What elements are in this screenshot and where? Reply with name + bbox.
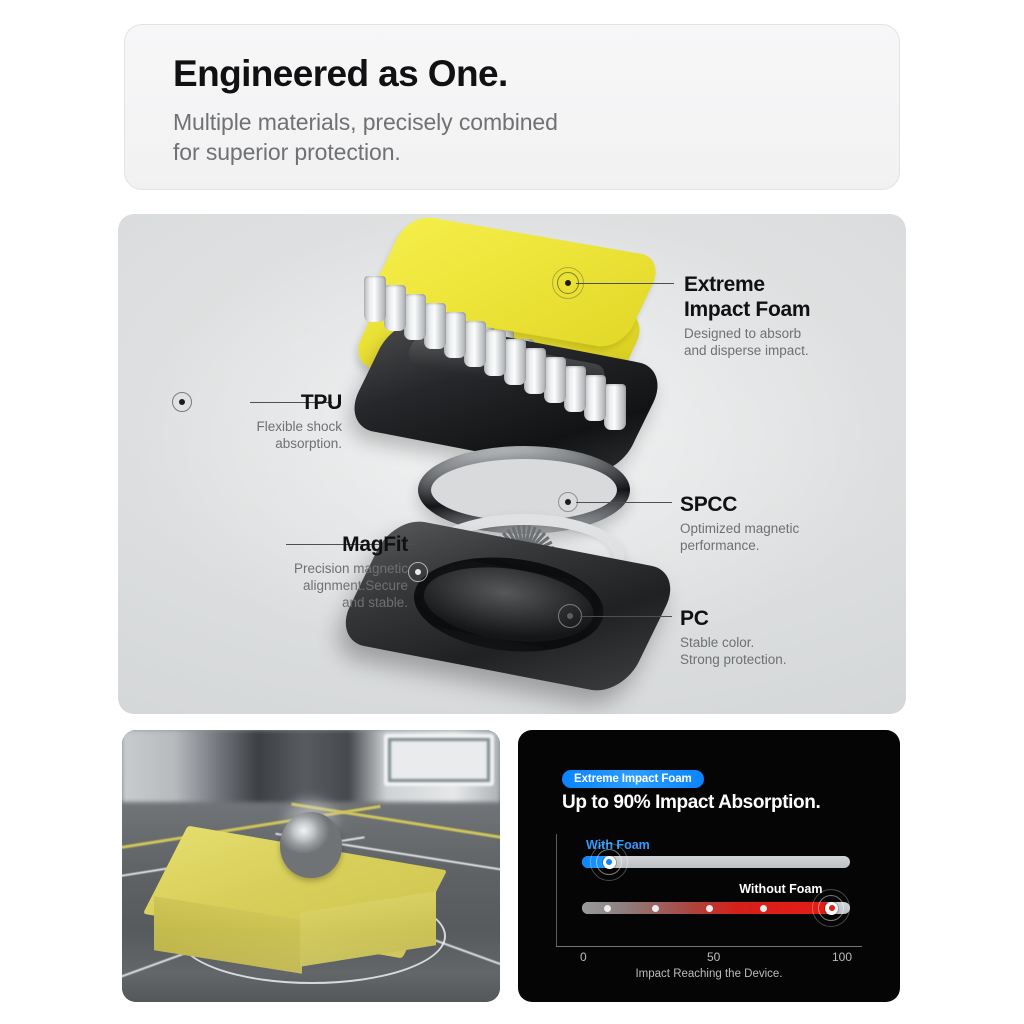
label-desc-line2: Strong protection. [680, 651, 787, 668]
label-desc-line2: alignment.Secure [128, 577, 408, 594]
subtitle-line-2: for superior protection. [173, 137, 558, 167]
leader-line-foam [576, 283, 674, 284]
foam-cell [424, 303, 446, 349]
label-magfit: MagFit Precision magnetic alignment.Secu… [128, 532, 408, 611]
label-desc: Optimized magnetic performance. [680, 520, 799, 554]
impact-ball [280, 812, 342, 878]
chart-node-2 [652, 905, 659, 912]
foam-cell [384, 285, 406, 331]
chart-x-axis [556, 946, 862, 947]
chart-bar-track-without-foam[interactable] [582, 902, 850, 914]
chart-node-1 [604, 905, 611, 912]
pc-cavity [395, 544, 622, 666]
label-title: MagFit [128, 532, 408, 557]
label-desc-line1: Stable color. [680, 634, 787, 651]
subtitle-line-1: Multiple materials, precisely combined [173, 107, 558, 137]
label-desc: Designed to absorb and disperse impact. [684, 325, 810, 359]
foam-cell [444, 312, 466, 358]
chart-badge: Extreme Impact Foam [562, 770, 704, 788]
chart-y-axis [556, 834, 557, 946]
photo-background-window [384, 734, 494, 786]
leader-line-pc [580, 616, 672, 617]
label-tpu: TPU Flexible shock absorption. [156, 390, 342, 452]
foam-cell [604, 384, 626, 430]
foam-cell [404, 294, 426, 340]
chart-title: Up to 90% Impact Absorption. [562, 792, 820, 814]
label-title: PC [680, 606, 787, 631]
callout-dot-magfit [415, 569, 421, 575]
leader-line-spcc [576, 502, 672, 503]
chart-node-3 [706, 905, 713, 912]
label-spcc: SPCC Optimized magnetic performance. [680, 492, 799, 554]
foam-cell [464, 321, 486, 367]
callout-dot-spcc [565, 499, 571, 505]
chart-xtick-100: 100 [832, 950, 852, 964]
label-desc-line1: Flexible shock [156, 418, 342, 435]
label-desc: Precision magnetic alignment.Secure and … [128, 560, 408, 611]
callout-dot-pc [567, 613, 573, 619]
chart-xlabel: Impact Reaching the Device. [556, 968, 862, 980]
foam-cell [544, 357, 566, 403]
impact-absorption-chart-card: Extreme Impact Foam Up to 90% Impact Abs… [518, 730, 900, 1002]
exploded-diagram-panel: Extreme Impact Foam Designed to absorb a… [118, 214, 906, 714]
label-desc-line1: Optimized magnetic [680, 520, 799, 537]
foam-cell [364, 276, 386, 322]
label-desc-line3: and stable. [128, 594, 408, 611]
label-desc: Stable color. Strong protection. [680, 634, 787, 668]
label-desc-line1: Designed to absorb [684, 325, 810, 342]
label-extreme-impact-foam: Extreme Impact Foam Designed to absorb a… [684, 272, 810, 359]
chart-ripple-with-foam-outer [590, 843, 628, 881]
page-title: Engineered as One. [173, 53, 508, 95]
label-desc-line2: and disperse impact. [684, 342, 810, 359]
foam-cell [484, 330, 506, 376]
label-desc: Flexible shock absorption. [156, 418, 342, 452]
foam-cell [504, 339, 526, 385]
chart-plot-area: With Foam Without Foam [556, 834, 862, 974]
chart-node-4 [760, 905, 767, 912]
callout-dot-foam [565, 280, 571, 286]
chart-xtick-50: 50 [707, 950, 720, 964]
label-title-line1: Extreme [684, 272, 810, 297]
page-subtitle: Multiple materials, precisely combined f… [173, 107, 558, 167]
label-title-line2: Impact Foam [684, 297, 810, 322]
label-desc-line1: Precision magnetic [128, 560, 408, 577]
foam-cell [584, 375, 606, 421]
photo-floor-reflection [122, 930, 500, 1002]
foam-cell [524, 348, 546, 394]
header-card: Engineered as One. Multiple materials, p… [124, 24, 900, 190]
series-label-without-foam: Without Foam [739, 882, 822, 896]
label-title: SPCC [680, 492, 799, 517]
label-pc: PC Stable color. Strong protection. [680, 606, 787, 668]
infographic-page: Engineered as One. Multiple materials, p… [0, 0, 1024, 1024]
label-title: TPU [156, 390, 342, 415]
foam-cell [564, 366, 586, 412]
label-desc-line2: performance. [680, 537, 799, 554]
chart-ripple-without-foam-outer [812, 889, 850, 927]
foam-drop-test-photo [122, 730, 500, 1002]
chart-xtick-0: 0 [580, 950, 587, 964]
label-desc-line2: absorption. [156, 435, 342, 452]
